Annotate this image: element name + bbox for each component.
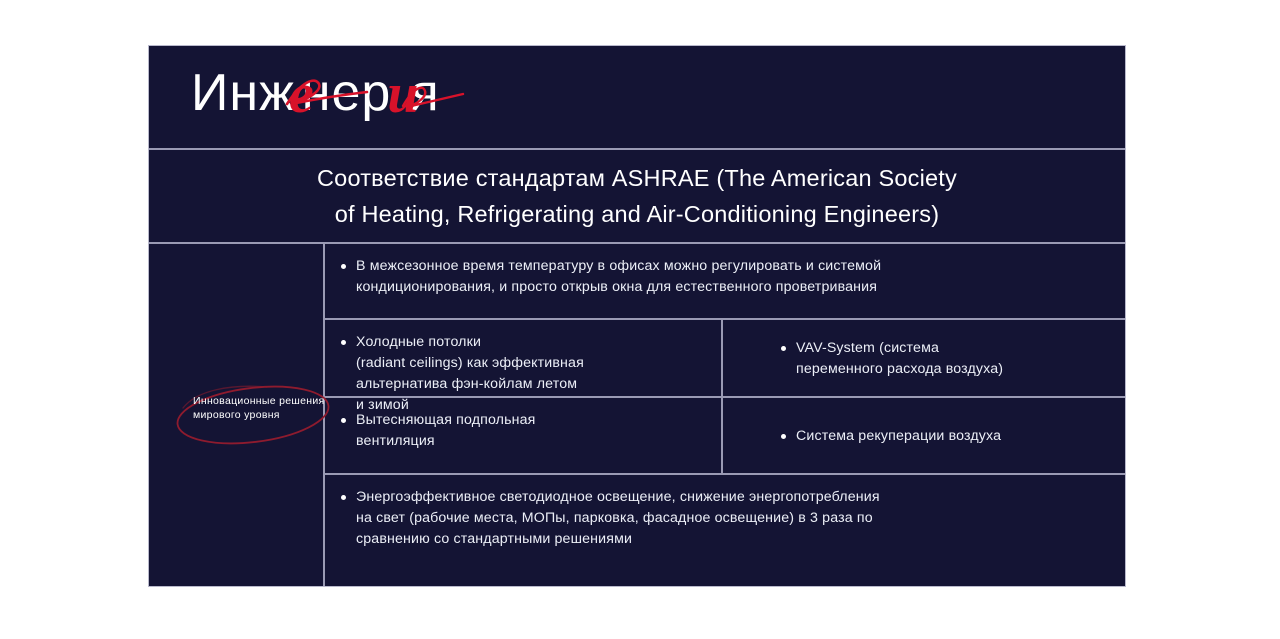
content-row-3: Вытесняющая подпольная вентиляция Систем…: [325, 398, 1125, 475]
content-row-2: Холодные потолки (radiant ceilings) как …: [325, 320, 1125, 398]
logo-accent-letter-e: е: [289, 66, 312, 122]
content-cell-3-1: Вытесняющая подпольная вентиляция: [325, 398, 723, 473]
logo-text-part1: Инж: [191, 64, 295, 122]
logo-band: Инженерия: [149, 46, 1125, 150]
content-rows: В межсезонное время температуру в офисах…: [325, 244, 1125, 586]
content-row-1: В межсезонное время температуру в офисах…: [325, 244, 1125, 320]
bullet-dot-icon: [341, 418, 346, 423]
slide-title-line-2: of Heating, Refrigerating and Air-Condit…: [335, 196, 939, 232]
bullet-dot-icon: [341, 264, 346, 269]
slide-title-line-1: Соответствие стандартам ASHRAE (The Amer…: [317, 160, 957, 196]
bullet-item: VAV-System (система переменного расхода …: [781, 338, 1003, 380]
content-row-4: Энергоэффективное светодиодное освещение…: [325, 475, 1125, 586]
bullet-item: В межсезонное время температуру в офисах…: [341, 256, 881, 298]
bullet-dot-icon: [781, 346, 786, 351]
logo-text-part2: нер: [302, 64, 392, 122]
content-cell-3-2: Система рекуперации воздуха: [723, 398, 1125, 473]
content-cell-2-2: VAV-System (система переменного расхода …: [723, 320, 1125, 396]
annotation-label: Инновационные решения мирового уровня: [193, 394, 325, 422]
bullet-text: В межсезонное время температуру в офисах…: [356, 256, 881, 298]
content-cell-1-1: В межсезонное время температуру в офисах…: [325, 244, 1125, 318]
bullet-dot-icon: [341, 495, 346, 500]
bullet-text: VAV-System (система переменного расхода …: [796, 338, 1003, 380]
sidebar-annotation-cell: Инновационные решения мирового уровня: [149, 244, 325, 586]
content-grid: Инновационные решения мирового уровня В …: [149, 244, 1125, 586]
annotation-group: Инновационные решения мирового уровня: [177, 384, 337, 446]
bullet-item: Энергоэффективное светодиодное освещение…: [341, 487, 880, 550]
slide-title: Соответствие стандартам ASHRAE (The Amer…: [149, 150, 1125, 244]
bullet-item: Система рекуперации воздуха: [781, 426, 1001, 447]
content-cell-4-1: Энергоэффективное светодиодное освещение…: [325, 475, 1125, 586]
bullet-text: Вытесняющая подпольная вентиляция: [356, 410, 536, 452]
presentation-slide: Инженерия Соответствие стандартам ASHRAE…: [148, 45, 1126, 587]
company-logo: Инженерия: [191, 64, 440, 120]
bullet-dot-icon: [781, 434, 786, 439]
bullet-text: Система рекуперации воздуха: [796, 426, 1001, 447]
bullet-text: Энергоэффективное светодиодное освещение…: [356, 487, 880, 550]
bullet-dot-icon: [341, 340, 346, 345]
bullet-item: Вытесняющая подпольная вентиляция: [341, 410, 536, 452]
content-cell-2-1: Холодные потолки (radiant ceilings) как …: [325, 320, 723, 396]
logo-accent-letter-i: и: [387, 66, 416, 122]
